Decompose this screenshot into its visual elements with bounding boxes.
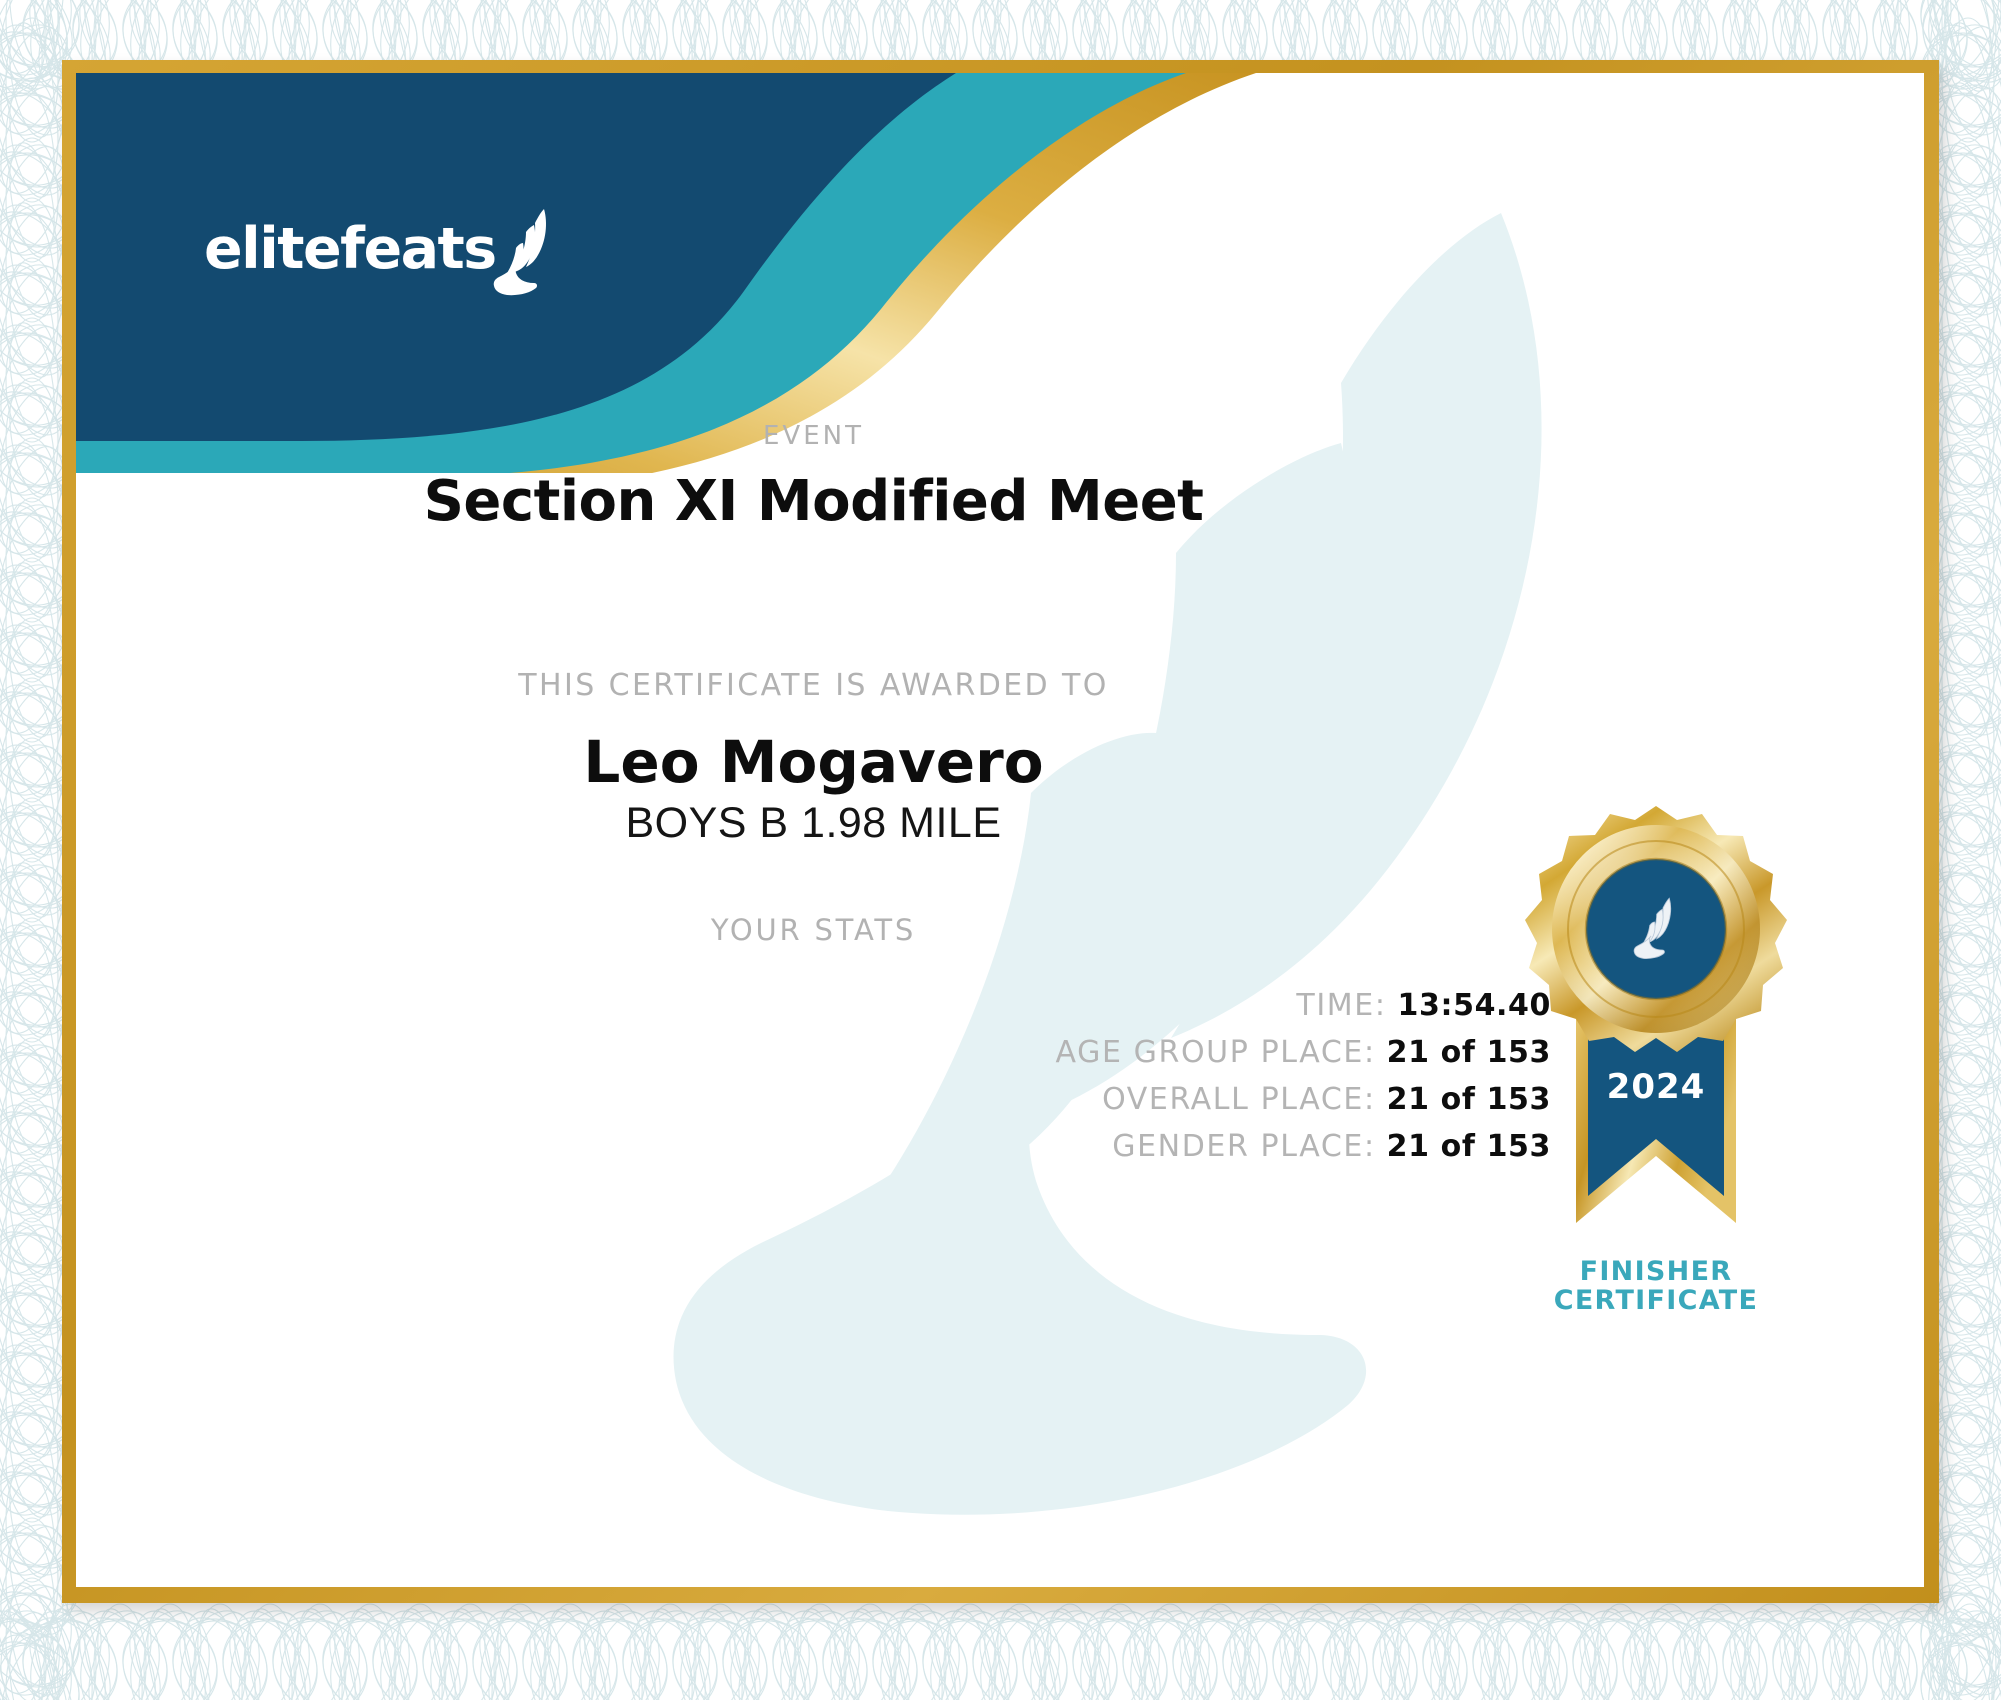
event-label: EVENT [76,421,1924,451]
stat-row: AGE GROUP PLACE: 21 of 153 [76,1035,1551,1070]
gold-certificate-frame: elitefeats [62,60,1939,1603]
stat-label: OVERALL PLACE: [1102,1082,1376,1117]
stat-row: OVERALL PLACE: 21 of 153 [76,1082,1551,1117]
badge-caption-line2: CERTIFICATE [1506,1286,1806,1315]
stat-row: TIME: 13:54.40 [76,988,1551,1023]
awarded-to-label: THIS CERTIFICATE IS AWARDED TO [76,668,1924,703]
badge-caption-line1: FINISHER [1506,1257,1806,1286]
recipient-name: Leo Mogavero [76,728,1924,796]
stat-row: GENDER PLACE: 21 of 153 [76,1129,1551,1164]
finisher-medal-badge: 2024 [1506,798,1806,1315]
medal-disc [1525,806,1787,1052]
certificate-page: elitefeats [0,0,2001,1700]
ribbon: 2024 [1576,1008,1736,1223]
certificate-body: elitefeats [76,73,1924,1587]
medal-rosette-icon: 2024 [1506,798,1806,1248]
stat-label: TIME: [1296,988,1386,1023]
badge-caption: FINISHER CERTIFICATE [1506,1257,1806,1315]
event-title: Section XI Modified Meet [76,469,1924,534]
stat-label: GENDER PLACE: [1112,1129,1375,1164]
stat-label: AGE GROUP PLACE: [1056,1035,1376,1070]
badge-year: 2024 [1607,1067,1706,1107]
certificate-content: EVENT Section XI Modified Meet THIS CERT… [76,73,1924,1587]
